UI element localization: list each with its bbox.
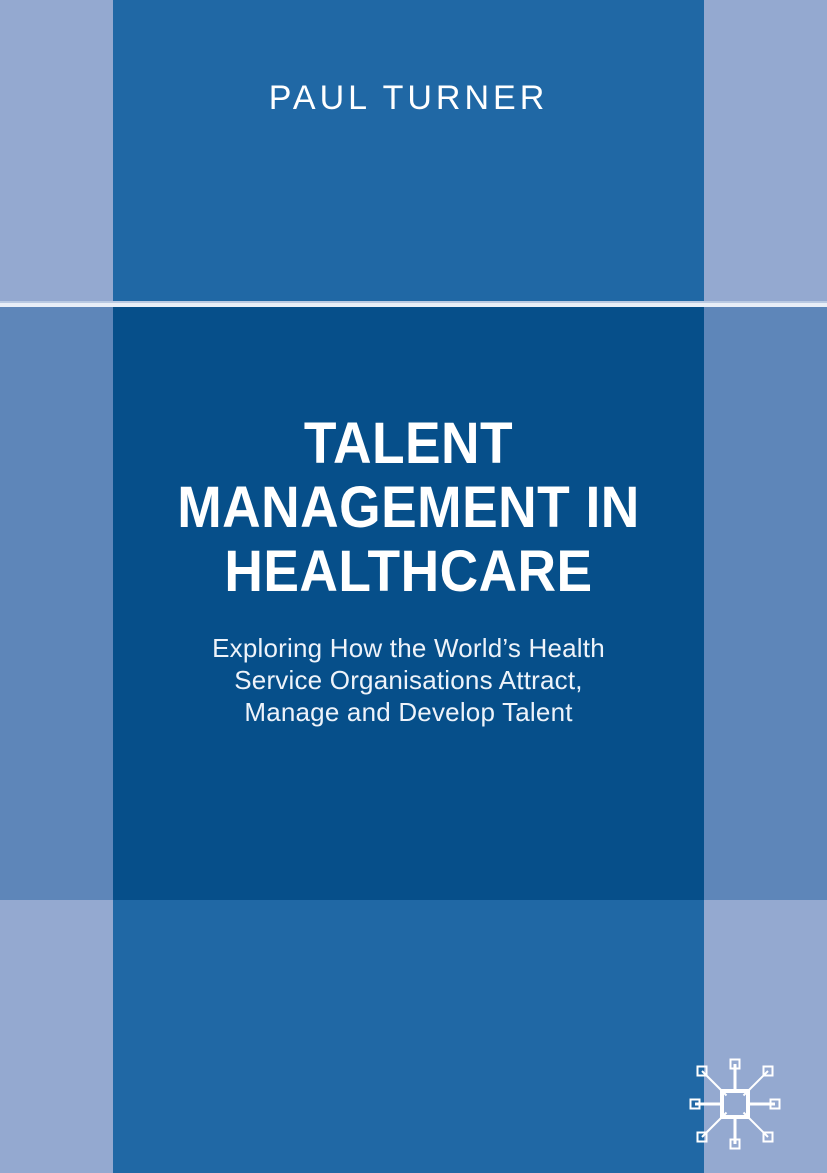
background-band-middle-left bbox=[0, 307, 113, 900]
book-title: TALENT MANAGEMENT IN HEALTHCARE bbox=[113, 412, 704, 604]
background-band-top-left bbox=[0, 0, 113, 303]
title-line-1: TALENT bbox=[137, 412, 681, 476]
subtitle-line-2: Service Organisations Attract, bbox=[113, 664, 704, 696]
palgrave-macmillan-logo-icon bbox=[683, 1052, 787, 1156]
starburst-icon bbox=[683, 1052, 787, 1156]
book-subtitle: Exploring How the World’s Health Service… bbox=[113, 632, 704, 728]
background-band-top-right bbox=[704, 0, 827, 303]
title-line-2: MANAGEMENT IN bbox=[137, 476, 681, 540]
background-band-top-center bbox=[113, 0, 704, 303]
background-band-middle-right bbox=[704, 307, 827, 900]
author-name: PAUL TURNER bbox=[113, 80, 704, 117]
background-band-bottom-center bbox=[113, 900, 704, 1173]
background-band-bottom-left bbox=[0, 900, 113, 1173]
book-cover: PAUL TURNER TALENT MANAGEMENT IN HEALTHC… bbox=[0, 0, 827, 1173]
subtitle-line-1: Exploring How the World’s Health bbox=[113, 632, 704, 664]
subtitle-line-3: Manage and Develop Talent bbox=[113, 696, 704, 728]
title-line-3: HEALTHCARE bbox=[137, 540, 681, 604]
